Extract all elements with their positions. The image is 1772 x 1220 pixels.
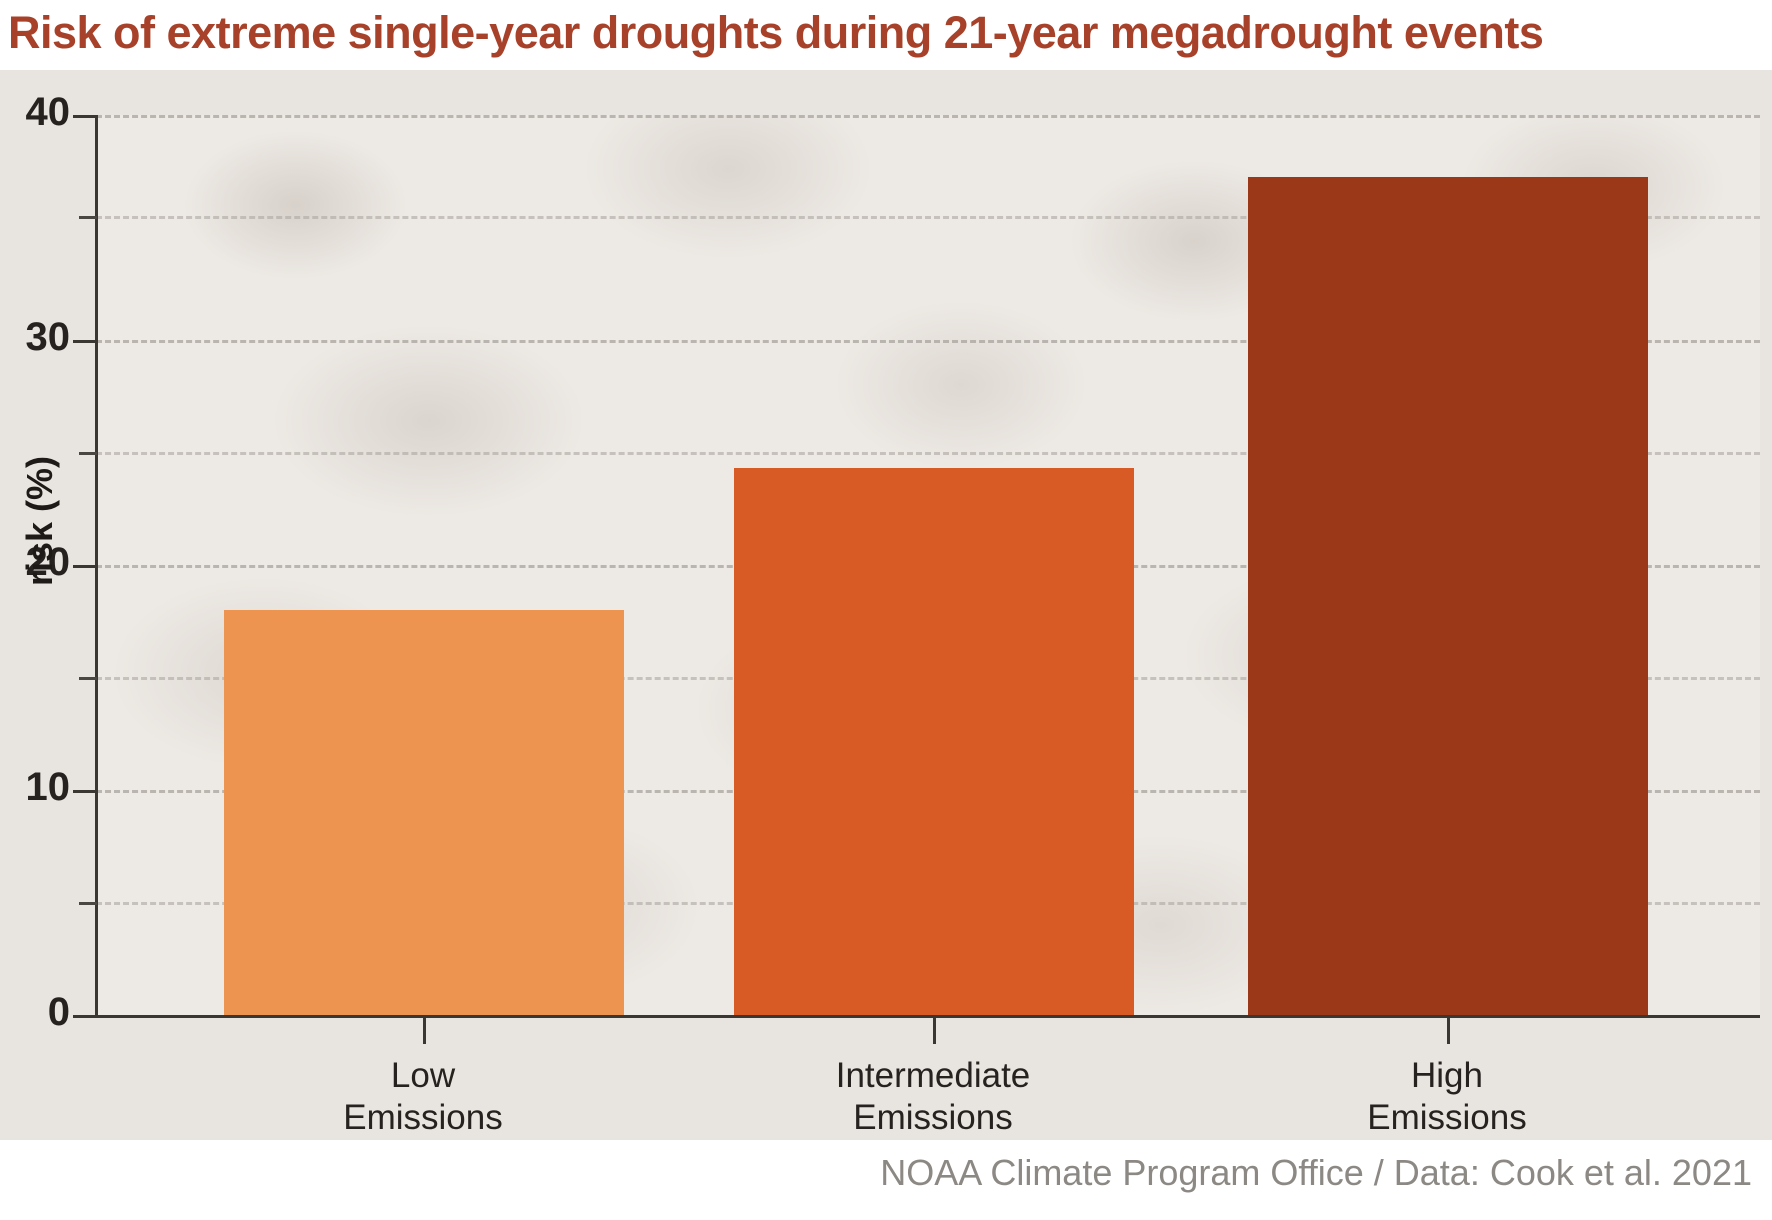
y-tick-label-10: 10 [0,765,70,810]
chart-page: Risk of extreme single-year droughts dur… [0,0,1772,1220]
y-tick-10 [73,790,97,793]
y-tick-label-0: 0 [0,990,70,1035]
x-category-label-high: High Emissions [1247,1055,1647,1139]
x-axis-line [95,1015,1760,1018]
y-axis-title: risk (%) [19,421,61,621]
y-tick-40 [73,115,97,118]
x-category-label-low: Low Emissions [223,1055,623,1139]
x-category-label-high-line2: Emissions [1247,1097,1647,1139]
y-tick-label-30: 30 [0,315,70,360]
x-category-label-intermediate: Intermediate Emissions [733,1055,1133,1139]
y-tick-30 [73,340,97,343]
x-tick-intermediate [933,1018,936,1044]
y-tick-15 [79,677,97,680]
source-credit: NOAA Climate Program Office / Data: Cook… [0,1152,1752,1194]
gridline-40 [96,115,1760,118]
y-tick-0 [73,1015,97,1018]
plot-panel: 40 30 20 10 0 risk (%) Low Emissions Int… [0,70,1772,1140]
y-tick-20 [73,565,97,568]
chart-title: Risk of extreme single-year droughts dur… [8,4,1768,64]
y-tick-label-40: 40 [0,90,70,135]
bar-low-emissions[interactable] [224,610,624,1015]
y-tick-35 [79,216,97,219]
x-tick-high [1447,1018,1450,1044]
y-tick-5 [79,902,97,905]
y-tick-25 [79,452,97,455]
x-category-label-intermediate-line2: Emissions [733,1097,1133,1139]
bar-intermediate-emissions[interactable] [734,468,1134,1015]
x-category-label-intermediate-line1: Intermediate [733,1055,1133,1097]
x-category-label-low-line1: Low [223,1055,623,1097]
x-tick-low [423,1018,426,1044]
bar-high-emissions[interactable] [1248,177,1648,1015]
x-category-label-high-line1: High [1247,1055,1647,1097]
x-category-label-low-line2: Emissions [223,1097,623,1139]
